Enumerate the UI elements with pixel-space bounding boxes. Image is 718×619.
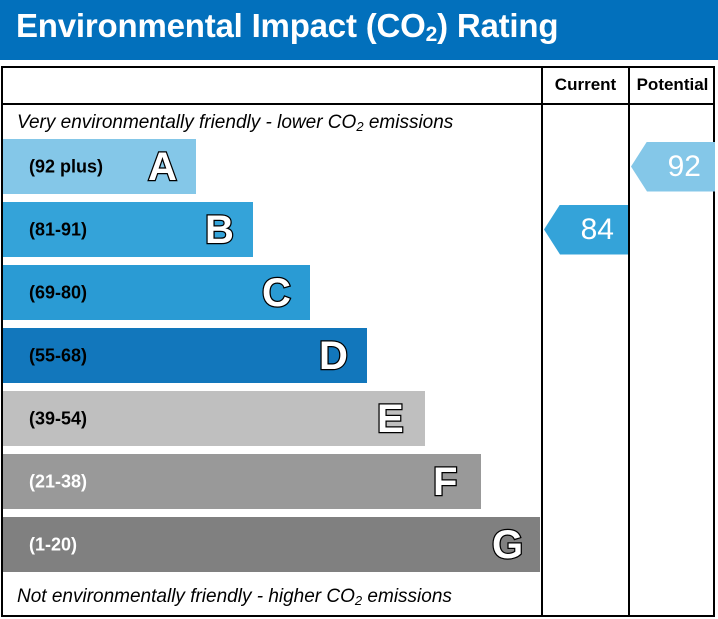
band-range-f: (21-38) — [29, 471, 87, 492]
band-row-c: (69-80)C — [3, 265, 310, 320]
caption-top-suffix: emissions — [364, 112, 454, 133]
band-range-e: (39-54) — [29, 408, 87, 429]
column-header-potential: Potential — [630, 75, 715, 95]
band-letter-d: D — [319, 336, 348, 376]
caption-bottom-subscript: 2 — [355, 593, 362, 608]
caption-bottom-prefix: Not environmentally friendly - higher CO — [17, 586, 355, 607]
band-row-d: (55-68)D — [3, 328, 367, 383]
page-title-subscript: 2 — [426, 23, 437, 46]
band-row-g: (1-20)G — [3, 517, 540, 572]
page-title-prefix: Environmental Impact (CO — [16, 7, 426, 44]
caption-top-subscript: 2 — [356, 119, 363, 134]
band-range-a: (92 plus) — [29, 156, 103, 177]
potential-rating-arrow: 92 — [631, 142, 715, 192]
band-letter-c: C — [262, 273, 291, 313]
current-rating-arrow: 84 — [544, 205, 628, 255]
band-letter-b: B — [205, 210, 234, 250]
band-letter-a: A — [148, 147, 177, 187]
band-range-g: (1-20) — [29, 534, 77, 555]
header-divider — [3, 103, 713, 105]
caption-bottom-suffix: emissions — [362, 586, 452, 607]
column-divider-current — [541, 68, 543, 615]
band-row-b: (81-91)B — [3, 202, 253, 257]
rating-table: Current Potential Very environmentally f… — [1, 66, 715, 617]
band-range-d: (55-68) — [29, 345, 87, 366]
column-divider-potential — [628, 68, 630, 615]
current-rating-value: 84 — [581, 215, 614, 245]
title-bar: Environmental Impact (CO2) Rating — [0, 0, 718, 60]
band-letter-f: F — [433, 462, 457, 502]
band-row-e: (39-54)E — [3, 391, 425, 446]
page-title: Environmental Impact (CO2) Rating — [16, 7, 558, 45]
band-range-b: (81-91) — [29, 219, 87, 240]
column-header-current: Current — [543, 75, 628, 95]
potential-rating-value: 92 — [668, 152, 701, 182]
band-list: (92 plus)A(81-91)B(69-80)C(55-68)D(39-54… — [3, 139, 541, 584]
band-row-a: (92 plus)A — [3, 139, 196, 194]
page-title-suffix: ) Rating — [437, 7, 558, 44]
caption-top: Very environmentally friendly - lower CO… — [17, 112, 453, 134]
band-letter-e: E — [377, 399, 404, 439]
caption-top-prefix: Very environmentally friendly - lower CO — [17, 112, 356, 133]
band-letter-g: G — [492, 525, 523, 565]
epc-environmental-impact-chart: Environmental Impact (CO2) Rating Curren… — [0, 0, 718, 619]
band-range-c: (69-80) — [29, 282, 87, 303]
band-row-f: (21-38)F — [3, 454, 481, 509]
caption-bottom: Not environmentally friendly - higher CO… — [17, 586, 452, 608]
